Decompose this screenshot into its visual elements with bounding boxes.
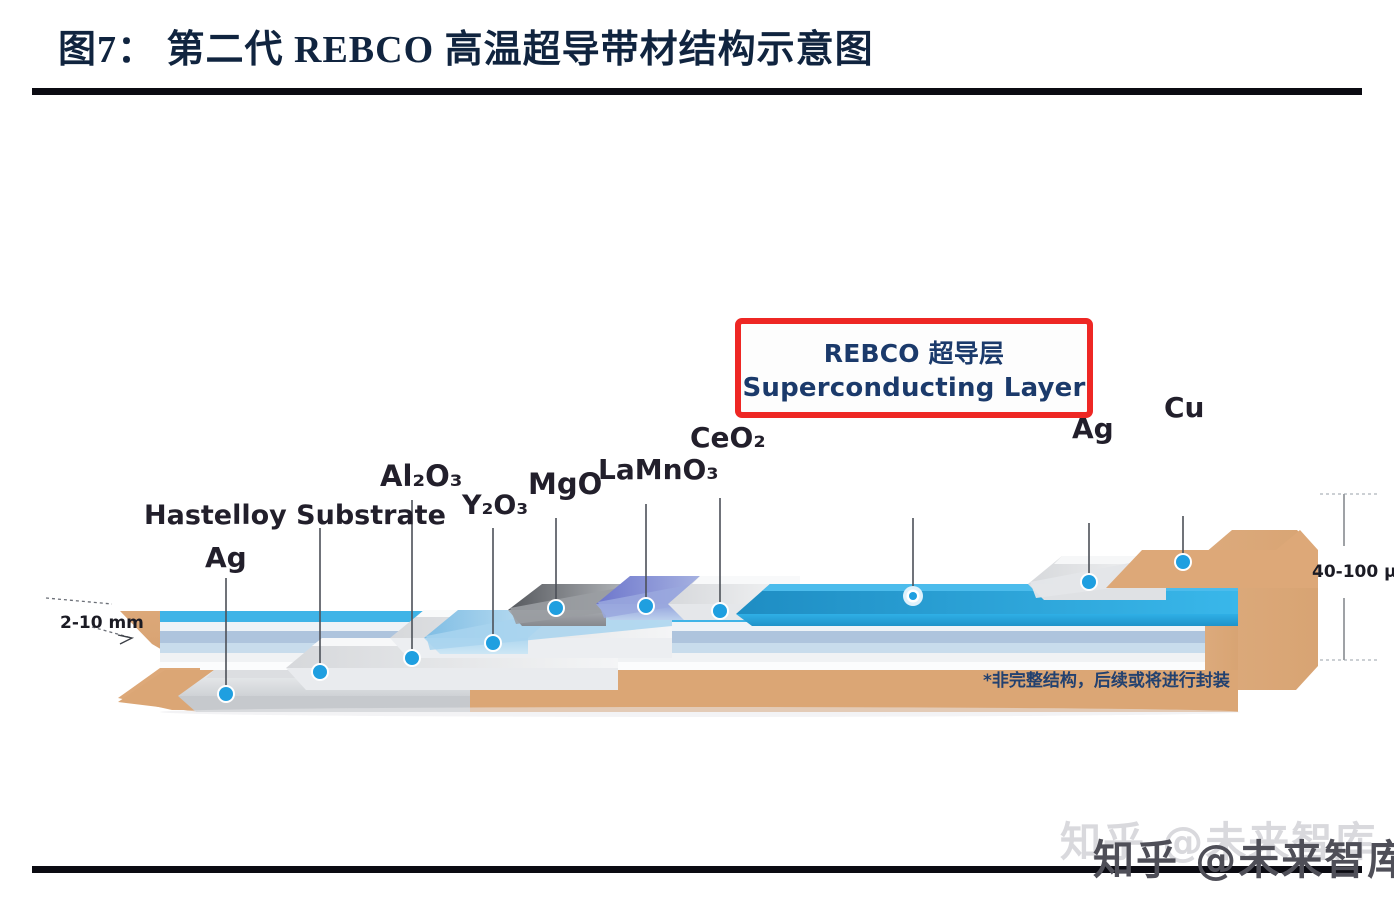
dimension-width-label: 2-10 mm [60, 613, 144, 633]
label-y2o3: Y₂O₃ [462, 492, 528, 519]
watermark-front: 知乎 @未来智库 [1093, 826, 1394, 886]
label-mgo: MgO [528, 470, 602, 499]
figure-divider-bottom [32, 866, 1362, 873]
label-cu: Cu [1164, 394, 1204, 422]
figure-footnote: *非完整结构，后续或将进行封装 [983, 666, 1230, 691]
watermark-back: 知乎 @未来智库 [1060, 808, 1377, 868]
layer-step-cu-cap [1106, 530, 1318, 588]
label-ag-top: Ag [1072, 415, 1114, 443]
label-ceo2: CeO₂ [690, 424, 766, 452]
title-divider-top [32, 88, 1362, 95]
label-al2o3: Al₂O₃ [380, 462, 462, 491]
page-title: 图7： 第二代 REBCO 高温超导带材结构示意图 [58, 18, 874, 73]
callout-line-cn: REBCO 超导层 [824, 334, 1005, 370]
callout-line-en: Superconducting Layer [742, 373, 1085, 403]
dimension-thickness-label: 40-100 μm [1312, 562, 1394, 582]
label-ag-bottom: Ag [205, 544, 247, 572]
rebco-callout-box: REBCO 超导层 Superconducting Layer [735, 318, 1093, 418]
label-lamno3: LaMnO₃ [598, 456, 719, 484]
label-hastelloy: Hastelloy Substrate [144, 502, 446, 529]
figure-root: 图7： 第二代 REBCO 高温超导带材结构示意图 [0, 0, 1394, 898]
